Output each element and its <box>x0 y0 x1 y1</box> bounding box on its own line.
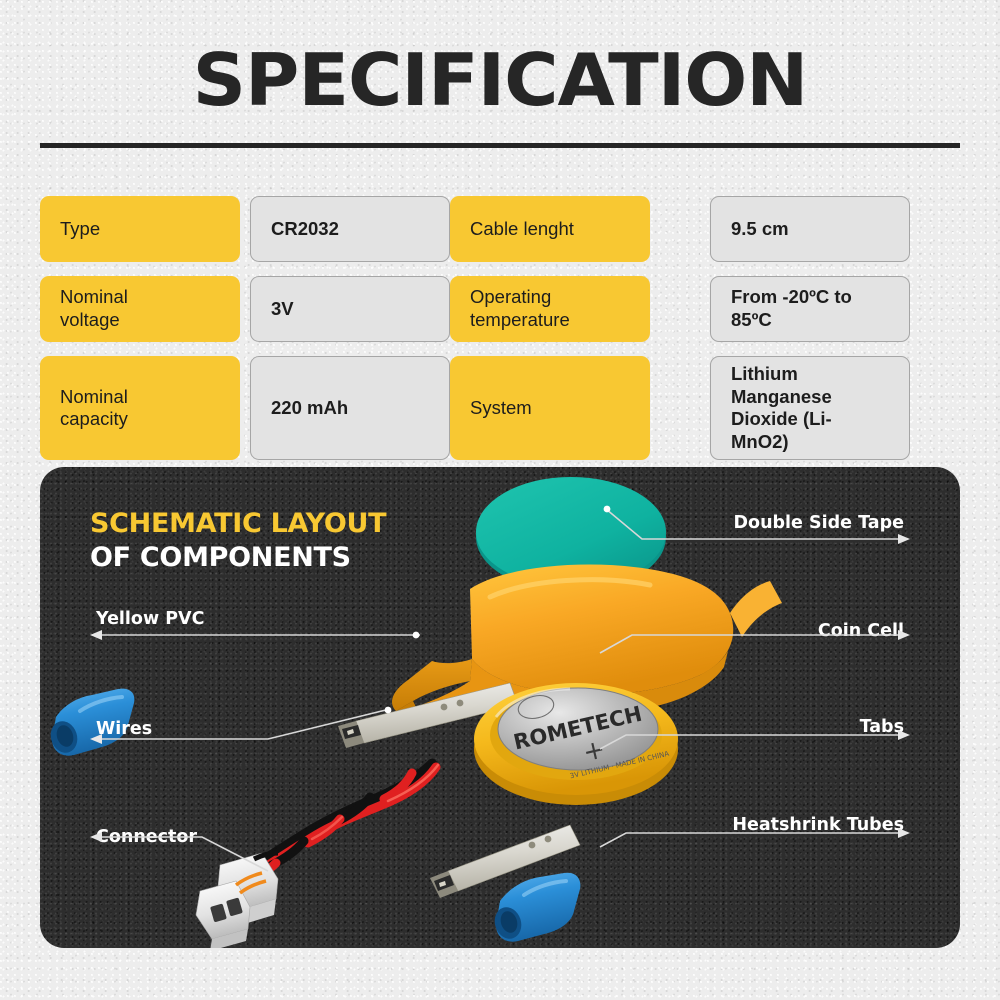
spec-label-operating-temperature: Operatingtemperature <box>450 276 650 342</box>
leader-line-connector <box>90 789 340 859</box>
callout-connector: Connector <box>90 789 340 859</box>
heatshrink-tube-lower-part <box>491 873 581 943</box>
leader-line-tabs <box>600 691 910 749</box>
spec-label-type: Type <box>40 196 240 262</box>
title-divider <box>40 143 960 148</box>
spec-label-nominal-capacity: Nominalcapacity <box>40 356 240 460</box>
leader-line-coin-cell <box>600 593 910 653</box>
spec-value-nominal-capacity: 220 mAh <box>250 356 450 460</box>
spec-label-system: System <box>450 356 650 460</box>
infographic-page: SPECIFICATION Type CR2032 Cable lenght 9… <box>0 0 1000 1000</box>
callout-tabs: Tabs <box>600 691 910 749</box>
callout-double-side-tape: Double Side Tape <box>600 495 910 545</box>
callout-yellow-pvc: Yellow PVC <box>90 593 420 641</box>
spec-value-type: CR2032 <box>250 196 450 262</box>
specification-table: Type CR2032 Cable lenght 9.5 cm Nominalv… <box>40 196 960 460</box>
leader-line-heatshrink-tubes <box>600 789 910 847</box>
callout-coin-cell: Coin Cell <box>600 593 910 653</box>
spec-value-operating-temperature: From -20ºC to 85ºC <box>710 276 910 342</box>
spec-value-cable-length: 9.5 cm <box>710 196 910 262</box>
callout-heatshrink-tubes: Heatshrink Tubes <box>600 789 910 847</box>
schematic-layout-panel: SCHEMATIC LAYOUT OF COMPONENTS <box>40 467 960 948</box>
leader-line-wires <box>90 691 510 751</box>
spec-label-cable-length: Cable lenght <box>450 196 650 262</box>
page-title: SPECIFICATION <box>0 44 1000 116</box>
spec-value-nominal-voltage: 3V <box>250 276 450 342</box>
callout-wires: Wires <box>90 691 510 751</box>
spec-label-nominal-voltage: Nominalvoltage <box>40 276 240 342</box>
leader-line-double-side-tape <box>600 495 910 545</box>
connector-part <box>196 853 278 948</box>
leader-line-yellow-pvc <box>90 593 420 641</box>
spec-value-system: Lithium Manganese Dioxide (Li-MnO2) <box>710 356 910 460</box>
